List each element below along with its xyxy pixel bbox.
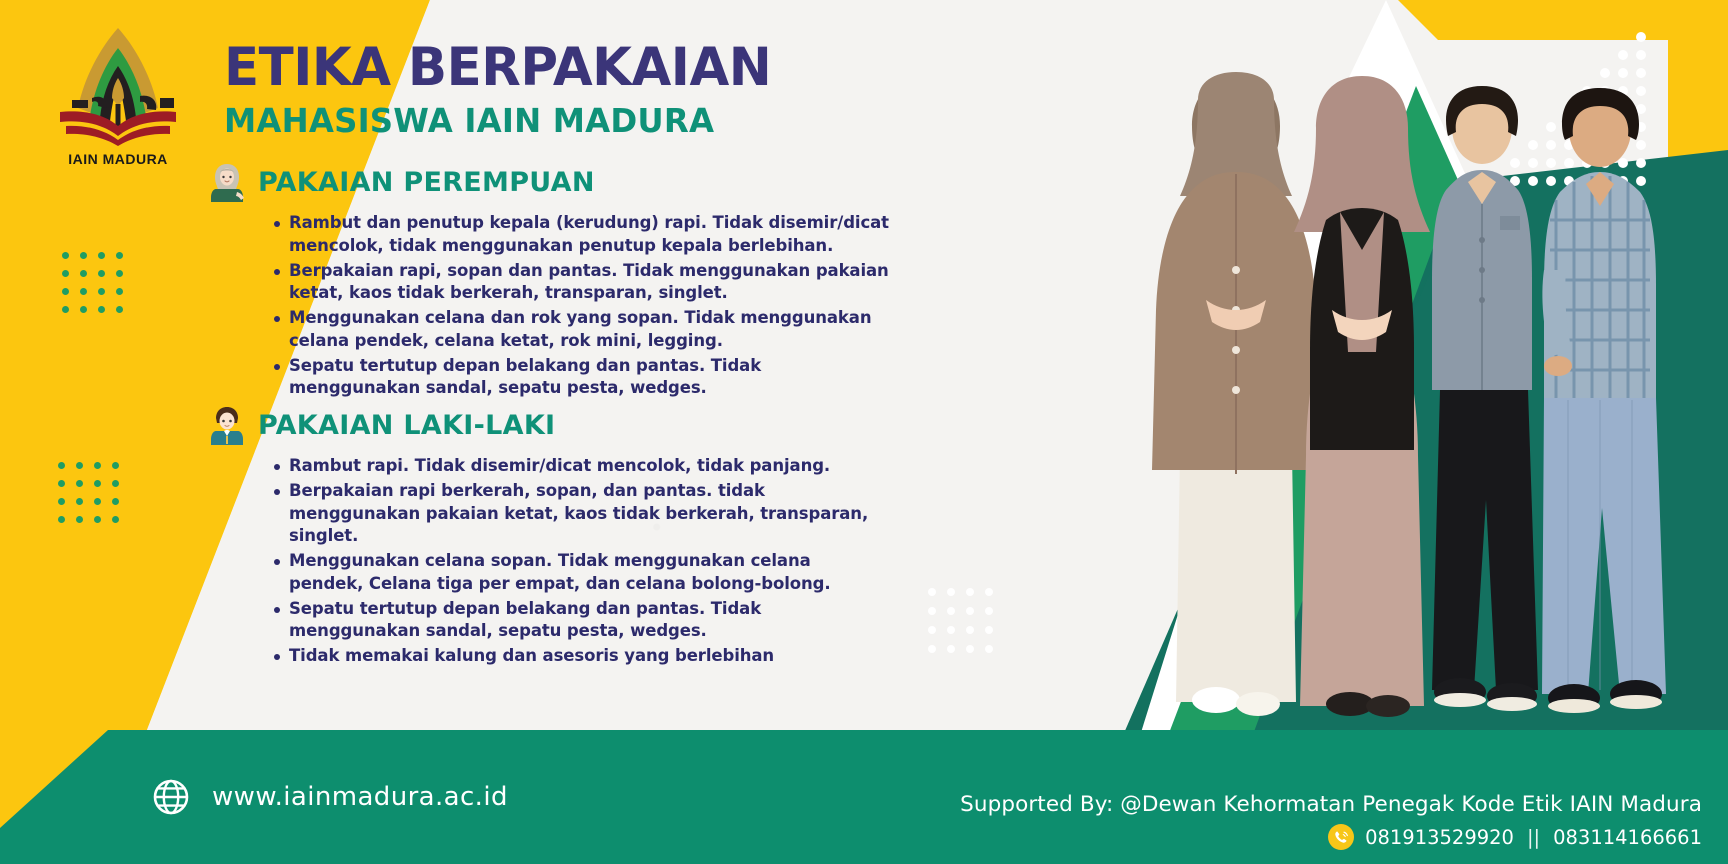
poster-canvas: IAIN MADURA ETIKA BERPAKAIAN MAHASISWA I… xyxy=(0,0,1728,864)
model-man-1 xyxy=(1432,86,1538,711)
iain-madura-logo: IAIN MADURA xyxy=(48,22,188,172)
phone-number-1[interactable]: 081913529920 xyxy=(1365,826,1514,849)
rule-item: Rambut rapi. Tidak disemir/dicat mencolo… xyxy=(272,455,890,478)
dot-pattern-left-lower xyxy=(58,462,130,534)
rule-item: Tidak memakai kalung dan asesoris yang b… xyxy=(272,645,890,668)
rule-item: Sepatu tertutup depan belakang dan panta… xyxy=(272,355,890,401)
phone-icon xyxy=(1328,824,1354,850)
footer-website-group[interactable]: www.iainmadura.ac.id xyxy=(152,730,508,864)
logo-wordmark: IAIN MADURA xyxy=(48,151,188,167)
rule-item: Rambut dan penutup kepala (kerudung) rap… xyxy=(272,212,890,258)
globe-icon xyxy=(152,778,190,816)
rules-list-women: Rambut dan penutup kepala (kerudung) rap… xyxy=(272,212,890,400)
rules-list-men: Rambut rapi. Tidak disemir/dicat mencolo… xyxy=(272,455,890,668)
supported-by-text: Supported By: @Dewan Kehormatan Penegak … xyxy=(960,792,1702,817)
section-header-men: PAKAIAN LAKI-LAKI xyxy=(210,405,890,445)
rule-item: Sepatu tertutup depan belakang dan panta… xyxy=(272,598,890,644)
man-icon xyxy=(210,405,244,445)
section-title-women: PAKAIAN PEREMPUAN xyxy=(258,167,595,198)
logo-mark-icon xyxy=(48,22,188,150)
phone-number-2[interactable]: 083114166661 xyxy=(1553,826,1702,849)
models-illustration xyxy=(1088,70,1728,730)
rule-item: Menggunakan celana sopan. Tidak mengguna… xyxy=(272,550,890,596)
dot-pattern-bottom-right xyxy=(928,588,1004,664)
poster-title: ETIKA BERPAKAIAN xyxy=(224,42,771,94)
dot-pattern-left-upper xyxy=(62,252,134,324)
contact-phones: 081913529920 || 083114166661 xyxy=(1328,824,1702,850)
section-pakaian-perempuan: PAKAIAN PEREMPUAN Rambut dan penutup kep… xyxy=(210,162,890,402)
rule-item: Menggunakan celana dan rok yang sopan. T… xyxy=(272,307,890,353)
rule-item: Berpakaian rapi berkerah, sopan, dan pan… xyxy=(272,480,890,548)
model-woman-1 xyxy=(1152,72,1320,716)
student-models-photo xyxy=(1088,70,1728,730)
website-url[interactable]: www.iainmadura.ac.id xyxy=(212,782,508,812)
footer-support-group: Supported By: @Dewan Kehormatan Penegak … xyxy=(960,792,1702,850)
section-title-men: PAKAIAN LAKI-LAKI xyxy=(258,410,555,441)
section-header-women: PAKAIAN PEREMPUAN xyxy=(210,162,890,202)
rule-item: Berpakaian rapi, sopan dan pantas. Tidak… xyxy=(272,260,890,306)
woman-hijab-icon xyxy=(210,162,244,202)
model-woman-2 xyxy=(1294,76,1430,717)
section-pakaian-laki-laki: PAKAIAN LAKI-LAKI Rambut rapi. Tidak dis… xyxy=(210,405,890,670)
poster-subtitle: MAHASISWA IAIN MADURA xyxy=(224,104,714,137)
model-man-2 xyxy=(1542,88,1666,713)
phone-separator: || xyxy=(1525,826,1542,849)
